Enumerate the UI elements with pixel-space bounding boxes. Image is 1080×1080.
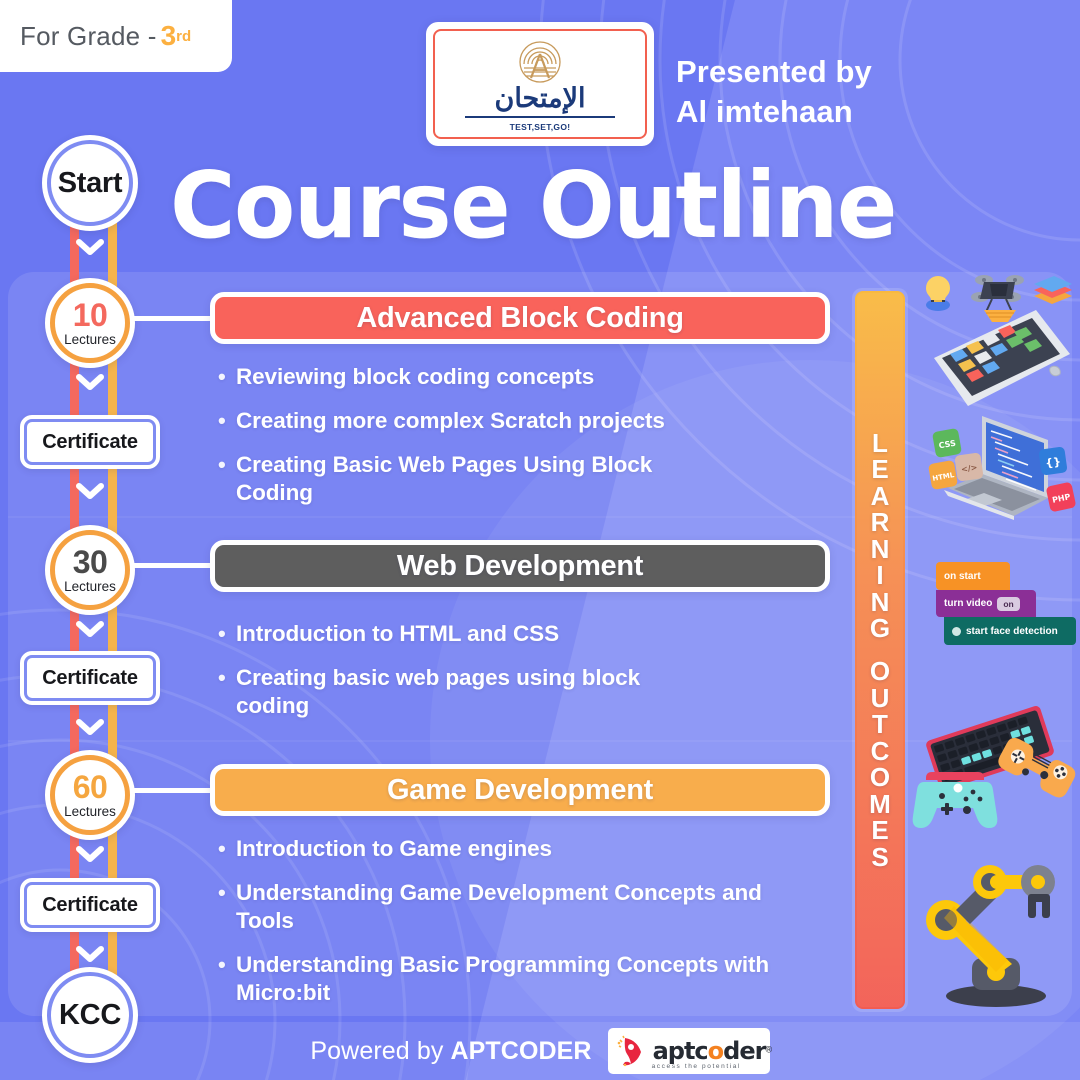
bullet-marker: • [218, 951, 236, 978]
section-header-game-development: Game Development [210, 764, 830, 816]
chevron-down-icon-6 [76, 845, 104, 863]
bullet-text: Reviewing block coding concepts [236, 363, 848, 391]
html-tag-icon: HTML [928, 460, 958, 490]
bullet-marker: • [218, 620, 236, 647]
lo-letter: A [871, 483, 890, 510]
lo-letter: O [870, 764, 890, 791]
bullet-text: Introduction to Game engines [236, 835, 848, 863]
brand-tagline: TEST,SET,GO! [510, 122, 571, 132]
bullet-text: Understanding Basic Programming Concepts… [236, 951, 796, 1007]
chevron-down-icon-1 [76, 238, 104, 256]
chevron-down-icon-3 [76, 482, 104, 500]
lo-letter: L [872, 430, 888, 457]
aptcoder-wordmark: aptcoder [653, 1037, 766, 1065]
footer: Powered by APTCODER aptcoder® access the… [0, 1022, 1080, 1080]
aptcoder-tagline: access the potential [652, 1063, 741, 1070]
lo-letter: N [871, 589, 890, 616]
lo-letter: T [872, 711, 888, 738]
bullet-item: • Reviewing block coding concepts [218, 363, 848, 391]
bullet-text: Creating Basic Web Pages Using Block Cod… [236, 451, 706, 507]
section-bullets-3: • Introduction to Game engines • Underst… [218, 835, 848, 1022]
illustration-robotics [916, 858, 1076, 1010]
powered-by-brand: APTCODER [450, 1037, 591, 1065]
connector-line-2 [132, 563, 218, 568]
lo-letter: S [871, 844, 888, 871]
brand-badge: الإمتحان TEST,SET,GO! [426, 22, 654, 146]
section-header-web-development: Web Development [210, 540, 830, 592]
lo-letter: E [871, 456, 888, 483]
php-tag-icon: PHP [1046, 482, 1077, 513]
bullet-item: • Introduction to HTML and CSS [218, 620, 848, 648]
presented-by-line1: Presented by [676, 52, 872, 92]
bullet-item: • Understanding Basic Programming Concep… [218, 951, 848, 1007]
chevron-down-icon-7 [76, 945, 104, 963]
timeline-node-start: Start [42, 135, 138, 231]
lo-letter: N [871, 536, 890, 563]
bullet-marker: • [218, 407, 236, 434]
drone-icon [971, 275, 1024, 322]
timeline-node-lectures-60: 60 Lectures [45, 750, 135, 840]
bullet-marker: • [218, 879, 236, 906]
stacked-layers-icon [1034, 276, 1072, 304]
lo-letter: R [871, 509, 890, 536]
smartphone-app-blocks-icon [934, 310, 1070, 406]
bullet-marker: • [218, 363, 236, 390]
lecture-ring-3 [50, 755, 130, 835]
section-bullets-1: • Reviewing block coding concepts • Crea… [218, 363, 848, 523]
grade-label: For Grade - [20, 21, 157, 52]
mandala-arch-emblem-icon [518, 40, 562, 84]
bullet-text: Understanding Game Development Concepts … [236, 879, 796, 935]
bullet-text: Introduction to HTML and CSS [236, 620, 848, 648]
section-bullets-2: • Introduction to HTML and CSS • Creatin… [218, 620, 848, 736]
certificate-chip-1: Certificate [20, 415, 160, 469]
bullet-marker: • [218, 451, 236, 478]
presented-by-block: Presented by Al imtehaan [676, 52, 872, 131]
certificate-label-3: Certificate [42, 894, 138, 917]
brand-arabic-name: الإمتحان [495, 85, 586, 112]
certificate-chip-2: Certificate [20, 651, 160, 705]
registered-mark: ® [765, 1044, 772, 1054]
braces-tag-icon: {} [1038, 446, 1067, 475]
lecture-ring-1 [50, 283, 130, 363]
grade-ordinal: rd [176, 28, 191, 45]
svg-text:{}: {} [1045, 455, 1062, 470]
learning-outcomes-inner: L E A R N I N G O U T C O M E S [855, 291, 905, 1009]
powered-by-prefix: Powered by [310, 1037, 450, 1065]
lo-letter: O [870, 658, 890, 685]
lo-letter: G [870, 615, 890, 642]
section-title-3: Game Development [387, 774, 653, 807]
certificate-label-1: Certificate [42, 431, 138, 454]
grade-number: 3 [161, 20, 177, 52]
css-tag-icon: CSS [932, 428, 962, 458]
bullet-item: • Creating basic web pages using block c… [218, 664, 848, 720]
infographic-canvas: For Grade - 3 rd الإمتحان TEST,SET,GO [0, 0, 1080, 1080]
certificate-label-2: Certificate [42, 667, 138, 690]
bullet-item: • Understanding Game Development Concept… [218, 879, 848, 935]
bullet-text: Creating basic web pages using block cod… [236, 664, 696, 720]
brand-divider [465, 116, 615, 118]
illustration-web-development: CSS </> HTML {} PHP [928, 400, 1080, 530]
timeline-node-lectures-30: 30 Lectures [45, 525, 135, 615]
section-title-1: Advanced Block Coding [356, 302, 683, 335]
lo-letter: E [871, 817, 888, 844]
section-title-2: Web Development [397, 550, 643, 583]
code-block-face-detection: start face detection [944, 617, 1076, 645]
page-title: Course Outline [170, 160, 896, 252]
learning-outcomes-strip: L E A R N I N G O U T C O M E S [852, 288, 908, 1012]
chevron-down-icon-4 [76, 620, 104, 638]
code-block-dropdown-value: on [997, 597, 1019, 611]
bullet-item: • Creating more complex Scratch projects [218, 407, 848, 435]
rocket-icon [616, 1034, 648, 1068]
illustration-code-blocks: on start turn video on start face detect… [936, 562, 1076, 658]
grade-tab: For Grade - 3 rd [0, 0, 232, 72]
bullet-marker: • [218, 835, 236, 862]
illustration-game-hardware [910, 700, 1080, 860]
lecture-ring-2 [50, 530, 130, 610]
chevron-down-icon-2 [76, 373, 104, 391]
lightbulb-icon [926, 276, 950, 311]
aptcoder-logo: aptcoder® access the potential [608, 1028, 770, 1074]
code-block-turn-video: turn video on [936, 590, 1036, 617]
code-block-label-1: on start [944, 571, 981, 582]
lo-letter: M [869, 791, 891, 818]
chevron-down-icon-5 [76, 718, 104, 736]
robot-arm-icon [926, 865, 1055, 1007]
code-block-on-start: on start [936, 562, 1010, 590]
timeline-node-lectures-10: 10 Lectures [45, 278, 135, 368]
powered-by-text: Powered by APTCODER [310, 1037, 591, 1066]
lo-letter: U [871, 685, 890, 712]
connector-line-3 [132, 788, 218, 793]
code-block-label-3: start face detection [966, 626, 1058, 637]
code-tag-icon: </> [954, 452, 983, 481]
connector-line-1 [132, 316, 218, 321]
bullet-item: • Creating Basic Web Pages Using Block C… [218, 451, 848, 507]
presented-by-line2: Al imtehaan [676, 92, 872, 132]
section-header-advanced-block-coding: Advanced Block Coding [210, 292, 830, 344]
brand-badge-inner: الإمتحان TEST,SET,GO! [433, 29, 647, 139]
start-node-label: Start [58, 167, 123, 200]
bullet-item: • Introduction to Game engines [218, 835, 848, 863]
lo-letter: C [871, 738, 890, 765]
code-block-label-2: turn video [944, 598, 992, 609]
camera-icon [952, 627, 961, 636]
certificate-chip-3: Certificate [20, 878, 160, 932]
bullet-marker: • [218, 664, 236, 691]
bullet-text: Creating more complex Scratch projects [236, 407, 848, 435]
lo-letter: I [876, 562, 883, 589]
